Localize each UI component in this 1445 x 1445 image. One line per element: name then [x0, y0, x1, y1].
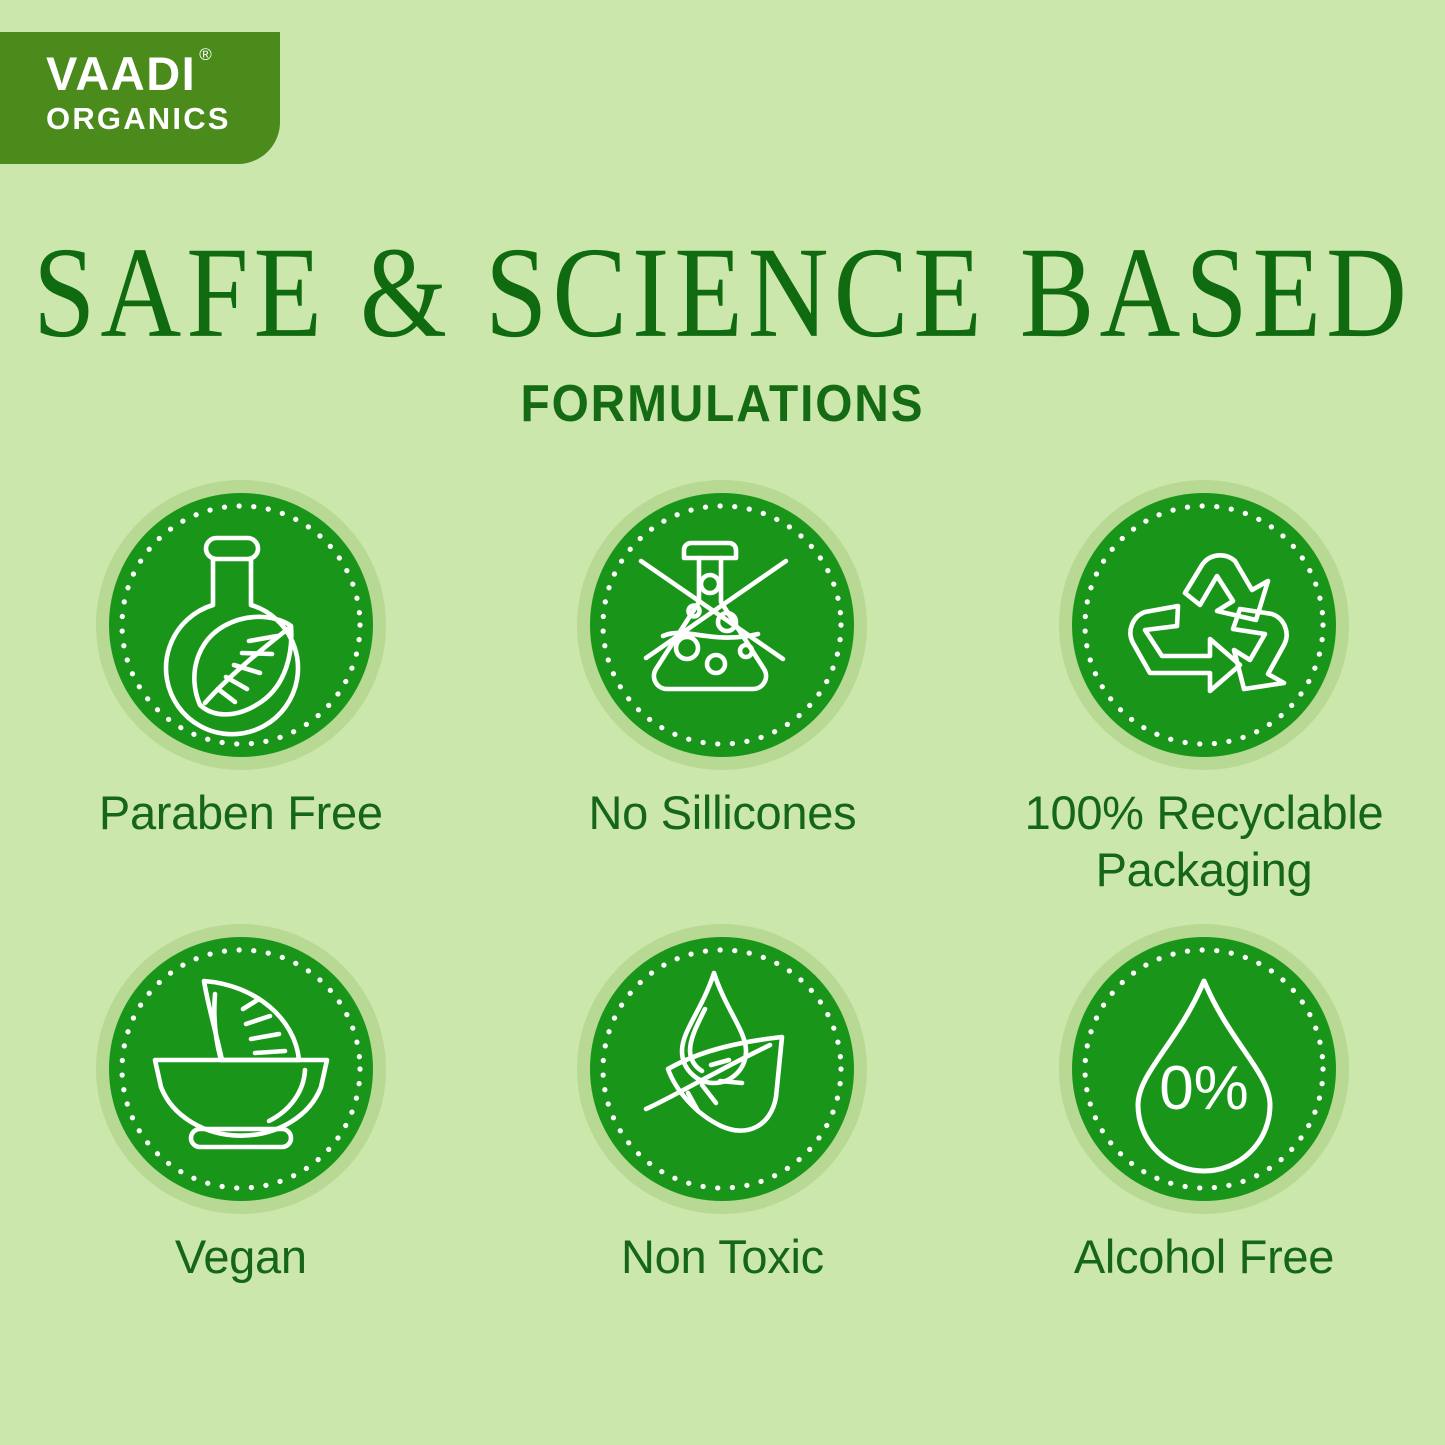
- brand-subname: ORGANICS: [46, 101, 280, 137]
- brand-name: VAADI®: [46, 50, 196, 97]
- droplet-zero-percent-icon: 0%: [1072, 937, 1336, 1201]
- feature-badge: [96, 924, 386, 1214]
- feature-badge: [577, 924, 867, 1214]
- feature-recyclable-packaging: 100% Recyclable Packaging: [963, 480, 1445, 899]
- recycle-icon: [1072, 493, 1336, 757]
- feature-row-2: Vegan Non To: [0, 924, 1445, 1285]
- feature-paraben-free: Paraben Free: [0, 480, 482, 899]
- page-title: SAFE & SCIENCE BASED: [0, 228, 1445, 358]
- feature-badge: [577, 480, 867, 770]
- feature-row-1: Paraben Free: [0, 480, 1445, 899]
- feature-label: Vegan: [175, 1228, 307, 1285]
- feature-badge: 0%: [1059, 924, 1349, 1214]
- bowl-with-leaf-icon: [109, 937, 373, 1201]
- feature-label: Alcohol Free: [1074, 1228, 1334, 1285]
- feature-badge: [1059, 480, 1349, 770]
- feature-label: 100% Recyclable Packaging: [989, 784, 1419, 899]
- feature-label: Paraben Free: [99, 784, 383, 841]
- flask-with-leaf-icon: [109, 493, 373, 757]
- feature-grid: Paraben Free: [0, 480, 1445, 1285]
- feature-no-sillicones: No Sillicones: [482, 480, 964, 899]
- brand-logo: VAADI® ORGANICS: [0, 32, 280, 164]
- droplet-on-leaf-icon: [590, 937, 854, 1201]
- crossed-out-flask-icon: [590, 493, 854, 757]
- feature-alcohol-free: 0% Alcohol Free: [963, 924, 1445, 1285]
- feature-badge: [96, 480, 386, 770]
- feature-label: No Sillicones: [589, 784, 857, 841]
- registered-trademark-icon: ®: [199, 46, 213, 63]
- feature-non-toxic: Non Toxic: [482, 924, 964, 1285]
- brand-name-text: VAADI: [46, 47, 196, 100]
- droplet-zero-percent-label: 0%: [1159, 1054, 1249, 1123]
- page-subtitle: FORMULATIONS: [58, 374, 1387, 434]
- feature-label: Non Toxic: [621, 1228, 824, 1285]
- feature-vegan: Vegan: [0, 924, 482, 1285]
